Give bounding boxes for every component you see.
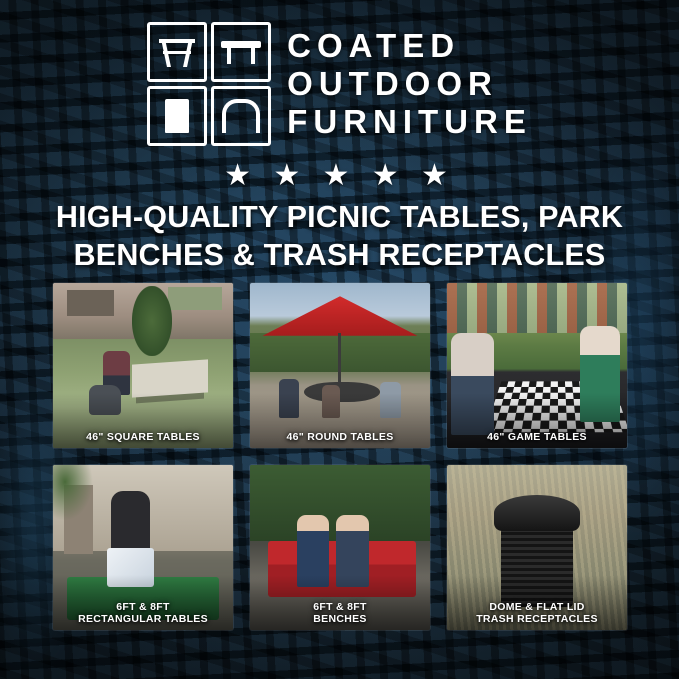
product-tile-square-tables[interactable]: 46" SQUARE TABLES xyxy=(53,283,233,448)
logo-icon-grid xyxy=(147,22,271,146)
brand-name-line-3: FURNITURE xyxy=(287,104,532,140)
product-tile-benches[interactable]: 6FT & 8FT BENCHES xyxy=(250,465,430,630)
page-title: HIGH-QUALITY PICNIC TABLES, PARK BENCHES… xyxy=(30,198,649,274)
star-rating: ★ ★ ★ ★ ★ xyxy=(0,158,679,193)
trash-receptacle-icon xyxy=(147,86,207,146)
brand-logo: COATED OUTDOOR FURNITURE xyxy=(0,22,679,146)
tile-caption: 6FT & 8FT RECTANGULAR TABLES xyxy=(53,601,233,625)
product-poster: COATED OUTDOOR FURNITURE ★ ★ ★ ★ ★ HIGH-… xyxy=(0,0,679,679)
brand-name-line-2: OUTDOOR xyxy=(287,66,532,102)
product-tile-game-tables[interactable]: 46" GAME TABLES xyxy=(447,283,627,448)
product-tile-trash-receptacles[interactable]: DOME & FLAT LID TRASH RECEPTACLES xyxy=(447,465,627,630)
picnic-table-icon xyxy=(147,22,207,82)
tile-caption: DOME & FLAT LID TRASH RECEPTACLES xyxy=(447,601,627,625)
park-bench-icon xyxy=(211,22,271,82)
product-tile-rectangular-tables[interactable]: 6FT & 8FT RECTANGULAR TABLES xyxy=(53,465,233,630)
tile-caption: 46" GAME TABLES xyxy=(447,431,627,443)
arch-icon xyxy=(211,86,271,146)
brand-name: COATED OUTDOOR FURNITURE xyxy=(287,28,532,141)
product-tile-grid: 46" SQUARE TABLES 46" ROUND TABLES 46" G… xyxy=(53,283,627,630)
product-tile-round-tables[interactable]: 46" ROUND TABLES xyxy=(250,283,430,448)
tile-caption: 6FT & 8FT BENCHES xyxy=(250,601,430,625)
poster-content: COATED OUTDOOR FURNITURE ★ ★ ★ ★ ★ HIGH-… xyxy=(0,0,679,679)
tile-caption: 46" ROUND TABLES xyxy=(250,431,430,443)
tile-caption: 46" SQUARE TABLES xyxy=(53,431,233,443)
brand-name-line-1: COATED xyxy=(287,28,532,64)
